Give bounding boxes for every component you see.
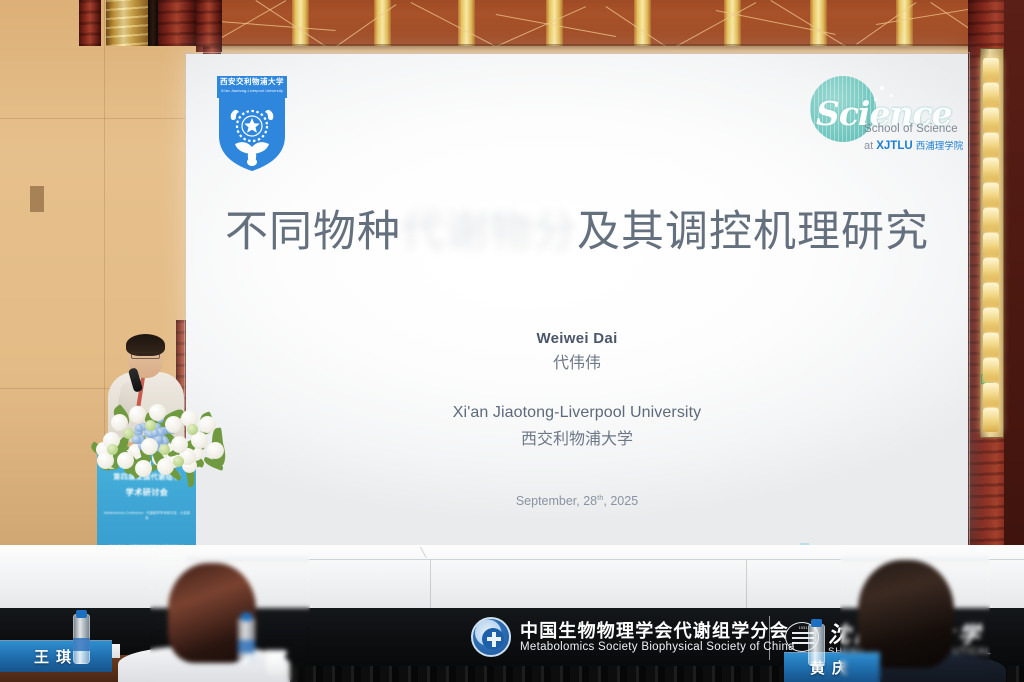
white-rose — [171, 436, 188, 453]
name-card-right: 黄庆 — [784, 652, 880, 682]
gold-vertical-stripe — [374, 0, 391, 46]
wall-fixture — [30, 186, 44, 212]
society-name-chinese: 中国生物物理学会代谢组学分会 — [520, 617, 789, 643]
gold-vertical-stripe — [634, 0, 651, 46]
green-accent-flower — [159, 444, 170, 455]
white-rose — [149, 404, 166, 421]
ceiling-diagonal-line — [496, 6, 586, 46]
bottle-label — [73, 638, 90, 651]
green-accent-flower — [173, 456, 184, 467]
wood-column — [196, 0, 222, 52]
science-subtitle: School of Science — [864, 123, 958, 135]
bottle-cap — [241, 613, 252, 621]
presenter-name-english: Weiwei Dai — [186, 330, 968, 347]
wall-sconce-lamp — [983, 358, 999, 382]
stage-seam — [746, 560, 747, 608]
bottle-cap — [76, 610, 87, 618]
date-month: September, — [516, 494, 583, 508]
xjtlu-shield-logo: 西安交利物浦大学 Xi'an Jiaotong-Liverpool Univer… — [217, 76, 287, 172]
wall-sconce-lamp — [983, 158, 999, 182]
white-rose — [135, 460, 152, 477]
conference-photo-scene: 西安交利物浦大学 Xi'an Jiaotong-Liverpool Univer… — [0, 0, 1024, 682]
wall-sconce-lamp — [983, 183, 999, 207]
wall-sconce-lamp — [983, 283, 999, 307]
gold-vertical-stripe — [724, 0, 741, 46]
science-affiliation-line: at XJTLU 西浦理学院 — [864, 138, 963, 152]
ceiling-diagonal-line — [255, 0, 326, 46]
speaker-glasses — [131, 352, 160, 359]
wall-sconce-lamp — [983, 258, 999, 282]
stage-seam — [430, 560, 431, 608]
bottle-cap — [811, 619, 822, 627]
shield-english-name: Xi'an Jiaotong-Liverpool University — [217, 88, 287, 94]
date-year: , 2025 — [603, 494, 638, 508]
name-card-left: 王琪 — [0, 640, 112, 672]
banner-divider — [769, 616, 770, 660]
wall-sconce-lamp — [983, 58, 999, 82]
affiliation-english: Xi'an Jiaotong-Liverpool University — [186, 404, 968, 422]
wood-column — [158, 0, 196, 46]
podium-sign-line2: 学术研讨会 — [103, 487, 191, 498]
wall-sconce-lamp — [983, 383, 999, 407]
ceiling-band-shadow — [196, 44, 1024, 51]
sparkle-icon — [880, 86, 884, 90]
wall-sconce-lamp — [983, 208, 999, 232]
wood-column-top — [79, 0, 101, 46]
green-accent-flower — [107, 444, 118, 455]
gold-vertical-stripe — [458, 0, 475, 46]
green-accent-flower — [145, 420, 156, 431]
podium-flower-arrangement — [95, 398, 227, 486]
wall-sconce-lamp — [983, 233, 999, 257]
right-wall-dark-edge — [1004, 0, 1024, 620]
slide-date: September, 28th, 2025 — [186, 493, 968, 508]
wall-panel-seam — [0, 118, 200, 119]
shield-wordmark: 西安交利物浦大学 Xi'an Jiaotong-Liverpool Univer… — [217, 76, 287, 98]
wall-sconce-lamp — [983, 133, 999, 157]
slide-title: 不同物种代谢物分及其调控机理研究 — [186, 206, 968, 258]
paper-cup — [266, 654, 285, 676]
ceiling-diagonal-line — [206, 20, 336, 31]
white-rose — [207, 442, 224, 459]
bottle-label — [238, 640, 255, 653]
wall-sconce-lamp — [983, 308, 999, 332]
hydrangea-floret — [132, 435, 140, 443]
wall-sconce-lamp — [983, 108, 999, 132]
name-card-right-text: 黄庆 — [784, 653, 880, 682]
affiliation-chinese: 西交利物浦大学 — [186, 425, 968, 449]
water-bottle — [808, 624, 825, 666]
wall-sconce-lamp — [983, 333, 999, 357]
science-chinese-text: 西浦理学院 — [916, 141, 964, 152]
date-day: 28 — [583, 494, 597, 508]
gold-vertical-stripe — [810, 0, 827, 46]
wall-sconce-lamp — [983, 408, 999, 432]
name-card-left-text: 王琪 — [0, 641, 112, 673]
metabolomics-society-logo — [471, 617, 511, 657]
society-logo-mark — [487, 637, 501, 641]
brass-accent-strip — [106, 0, 148, 46]
title-obscured-middle: 代谢物分 — [401, 207, 577, 257]
green-accent-flower — [187, 424, 198, 435]
title-visible-end: 及其调控机理研究 — [577, 207, 929, 257]
shield-chinese-name: 西安交利物浦大学 — [217, 76, 287, 88]
white-rose — [117, 452, 134, 469]
white-rose — [141, 438, 158, 455]
podium-sign-body: Metabolomics Conference · 代谢组学学术研讨会 · 大会… — [103, 511, 191, 521]
white-rose — [157, 458, 174, 475]
green-accent-flower — [123, 428, 134, 439]
presenter-name-chinese: 代伟伟 — [186, 349, 968, 373]
white-rose — [165, 416, 182, 433]
ceiling-diagonal-line — [676, 2, 756, 46]
shield-crest-icon — [217, 96, 287, 172]
wall-sconce-lamp — [983, 83, 999, 107]
school-of-science-logo: Science School of Science at XJTLU 西浦理学院 — [806, 76, 966, 160]
white-rose — [129, 406, 146, 423]
society-name-english: Metabolomics Society Biophysical Society… — [520, 641, 795, 653]
ceiling-diagonal-line — [411, 2, 496, 46]
gold-vertical-stripe — [292, 0, 309, 46]
title-visible-start: 不同物种 — [225, 207, 401, 257]
decorative-ceiling-band — [196, 0, 1024, 46]
white-rose — [199, 416, 216, 433]
science-at-prefix: at — [864, 140, 876, 152]
science-xjtlu-text: XJTLU — [876, 140, 912, 152]
dark-column-inlay — [148, 0, 158, 46]
